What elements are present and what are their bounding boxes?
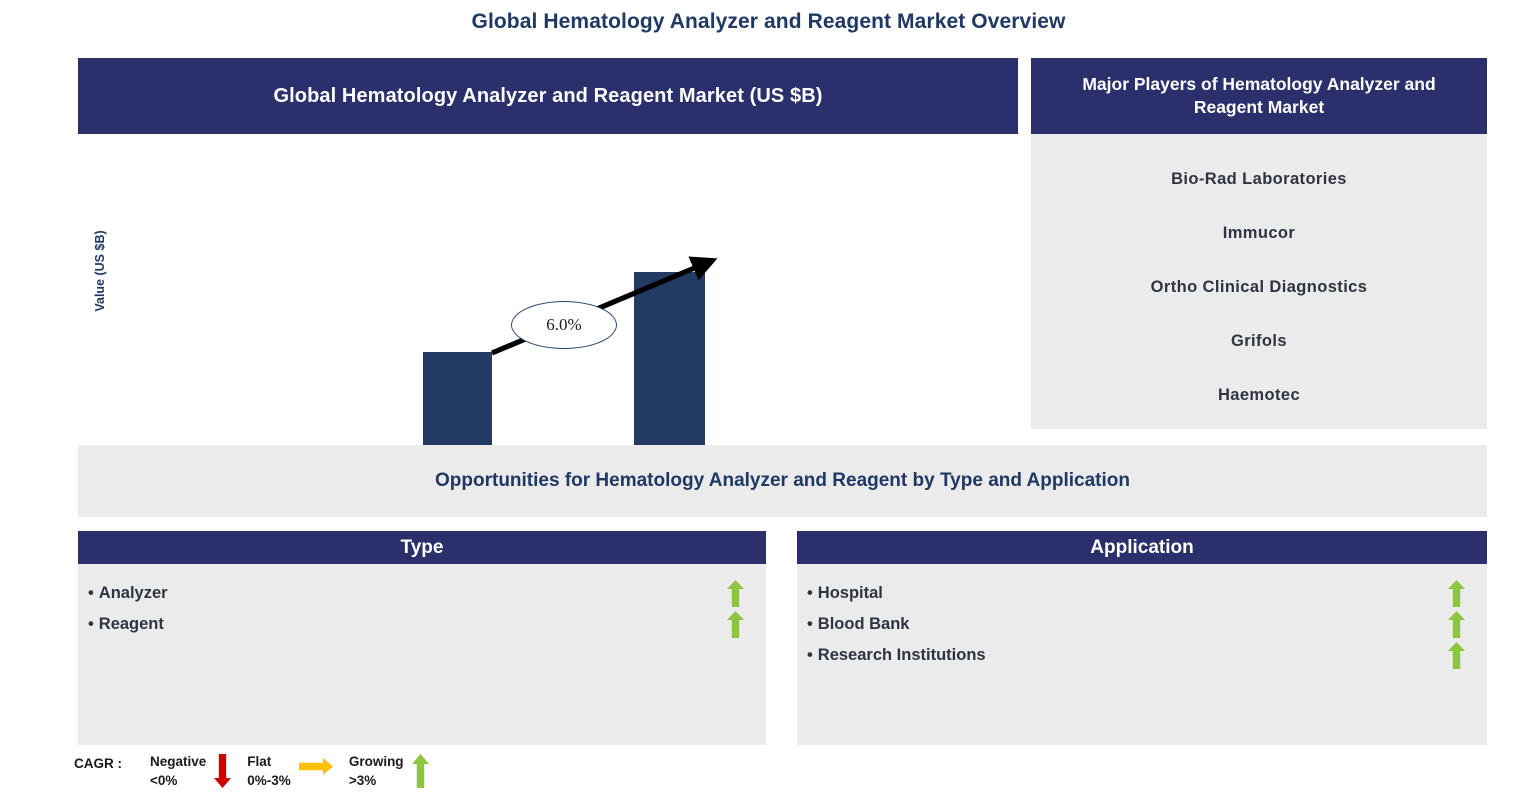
chart-panel-header: Global Hematology Analyzer and Reagent M… <box>78 58 1018 134</box>
type-panel-title: Type <box>401 537 444 559</box>
legend-negative-text: Negative <0% <box>150 752 206 790</box>
application-panel-body: •Hospital •Blood Bank •Research Institut… <box>797 564 1487 745</box>
legend-entry-negative: Negative <0% <box>150 752 239 790</box>
legend-growing-text: Growing >3% <box>349 752 404 790</box>
bullet-icon: • <box>807 646 813 664</box>
type-row-label: •Reagent <box>88 615 727 634</box>
cagr-legend: CAGR : Negative <0% Flat 0%-3% Growing >… <box>74 752 445 790</box>
cagr-legend-label: CAGR : <box>74 752 122 771</box>
arrow-down-red-icon <box>214 752 231 788</box>
arrow-right-yellow-icon <box>299 752 333 775</box>
list-item: •Hospital <box>797 578 1487 609</box>
application-row-label: •Research Institutions <box>807 646 1448 665</box>
major-players-title: Major Players of Hematology Analyzer and… <box>1047 73 1471 119</box>
bullet-icon: • <box>88 615 94 633</box>
type-panel-body: •Analyzer •Reagent <box>78 564 766 745</box>
arrow-up-green-icon <box>1448 580 1465 607</box>
list-item: •Reagent <box>78 609 766 640</box>
list-item: Grifols <box>1031 314 1487 368</box>
type-panel-header: Type <box>78 531 766 564</box>
major-players-list: Bio-Rad Laboratories Immucor Ortho Clini… <box>1031 134 1487 422</box>
application-panel-title: Application <box>1090 537 1193 559</box>
list-item: •Analyzer <box>78 578 766 609</box>
cagr-callout-bubble: 6.0% <box>511 301 617 349</box>
arrow-up-green-icon <box>727 611 744 638</box>
major-players-panel: Major Players of Hematology Analyzer and… <box>1031 58 1487 429</box>
legend-flat-name: Flat <box>247 752 291 771</box>
bullet-icon: • <box>807 584 813 602</box>
opportunities-title: Opportunities for Hematology Analyzer an… <box>435 470 1130 492</box>
list-item: •Blood Bank <box>797 609 1487 640</box>
page-title: Global Hematology Analyzer and Reagent M… <box>0 10 1537 34</box>
application-row-label: •Blood Bank <box>807 615 1448 634</box>
application-panel-header: Application <box>797 531 1487 564</box>
list-item: Ortho Clinical Diagnostics <box>1031 260 1487 314</box>
legend-entry-flat: Flat 0%-3% <box>247 752 341 790</box>
major-players-header: Major Players of Hematology Analyzer and… <box>1031 58 1487 134</box>
application-row-text: Research Institutions <box>818 646 986 664</box>
bullet-icon: • <box>807 615 813 633</box>
application-row-label: •Hospital <box>807 584 1448 603</box>
arrow-up-green-icon <box>1448 611 1465 638</box>
type-row-label: •Analyzer <box>88 584 727 603</box>
application-panel: Application •Hospital •Blood Bank •Resea… <box>797 531 1487 745</box>
type-row-text: Reagent <box>99 615 164 633</box>
legend-negative-range: <0% <box>150 771 206 790</box>
chart-body: Value (US $B) 6.0% 2025 2031 Source : Lu… <box>78 134 1018 438</box>
bullet-icon: • <box>88 584 94 602</box>
market-chart-panel: Global Hematology Analyzer and Reagent M… <box>78 58 1018 438</box>
cagr-value: 6.0% <box>546 315 581 335</box>
list-item: •Research Institutions <box>797 640 1487 671</box>
legend-entry-growing: Growing >3% <box>349 752 437 790</box>
legend-flat-range: 0%-3% <box>247 771 291 790</box>
list-item: Bio-Rad Laboratories <box>1031 152 1487 206</box>
arrow-up-green-icon <box>1448 642 1465 669</box>
list-item: Immucor <box>1031 206 1487 260</box>
type-panel: Type •Analyzer •Reagent <box>78 531 766 745</box>
legend-flat-text: Flat 0%-3% <box>247 752 291 790</box>
arrow-up-green-icon <box>412 752 429 788</box>
bar-chart-plot-area: 6.0% 2025 2031 Source : Lucintel <box>78 134 1018 438</box>
application-row-text: Blood Bank <box>818 615 910 633</box>
type-row-text: Analyzer <box>99 584 168 602</box>
application-row-text: Hospital <box>818 584 883 602</box>
list-item: Haemotec <box>1031 368 1487 422</box>
legend-growing-name: Growing <box>349 752 404 771</box>
opportunities-band: Opportunities for Hematology Analyzer an… <box>78 445 1487 517</box>
legend-negative-name: Negative <box>150 752 206 771</box>
chart-panel-title: Global Hematology Analyzer and Reagent M… <box>273 85 822 108</box>
arrow-up-green-icon <box>727 580 744 607</box>
legend-growing-range: >3% <box>349 771 404 790</box>
